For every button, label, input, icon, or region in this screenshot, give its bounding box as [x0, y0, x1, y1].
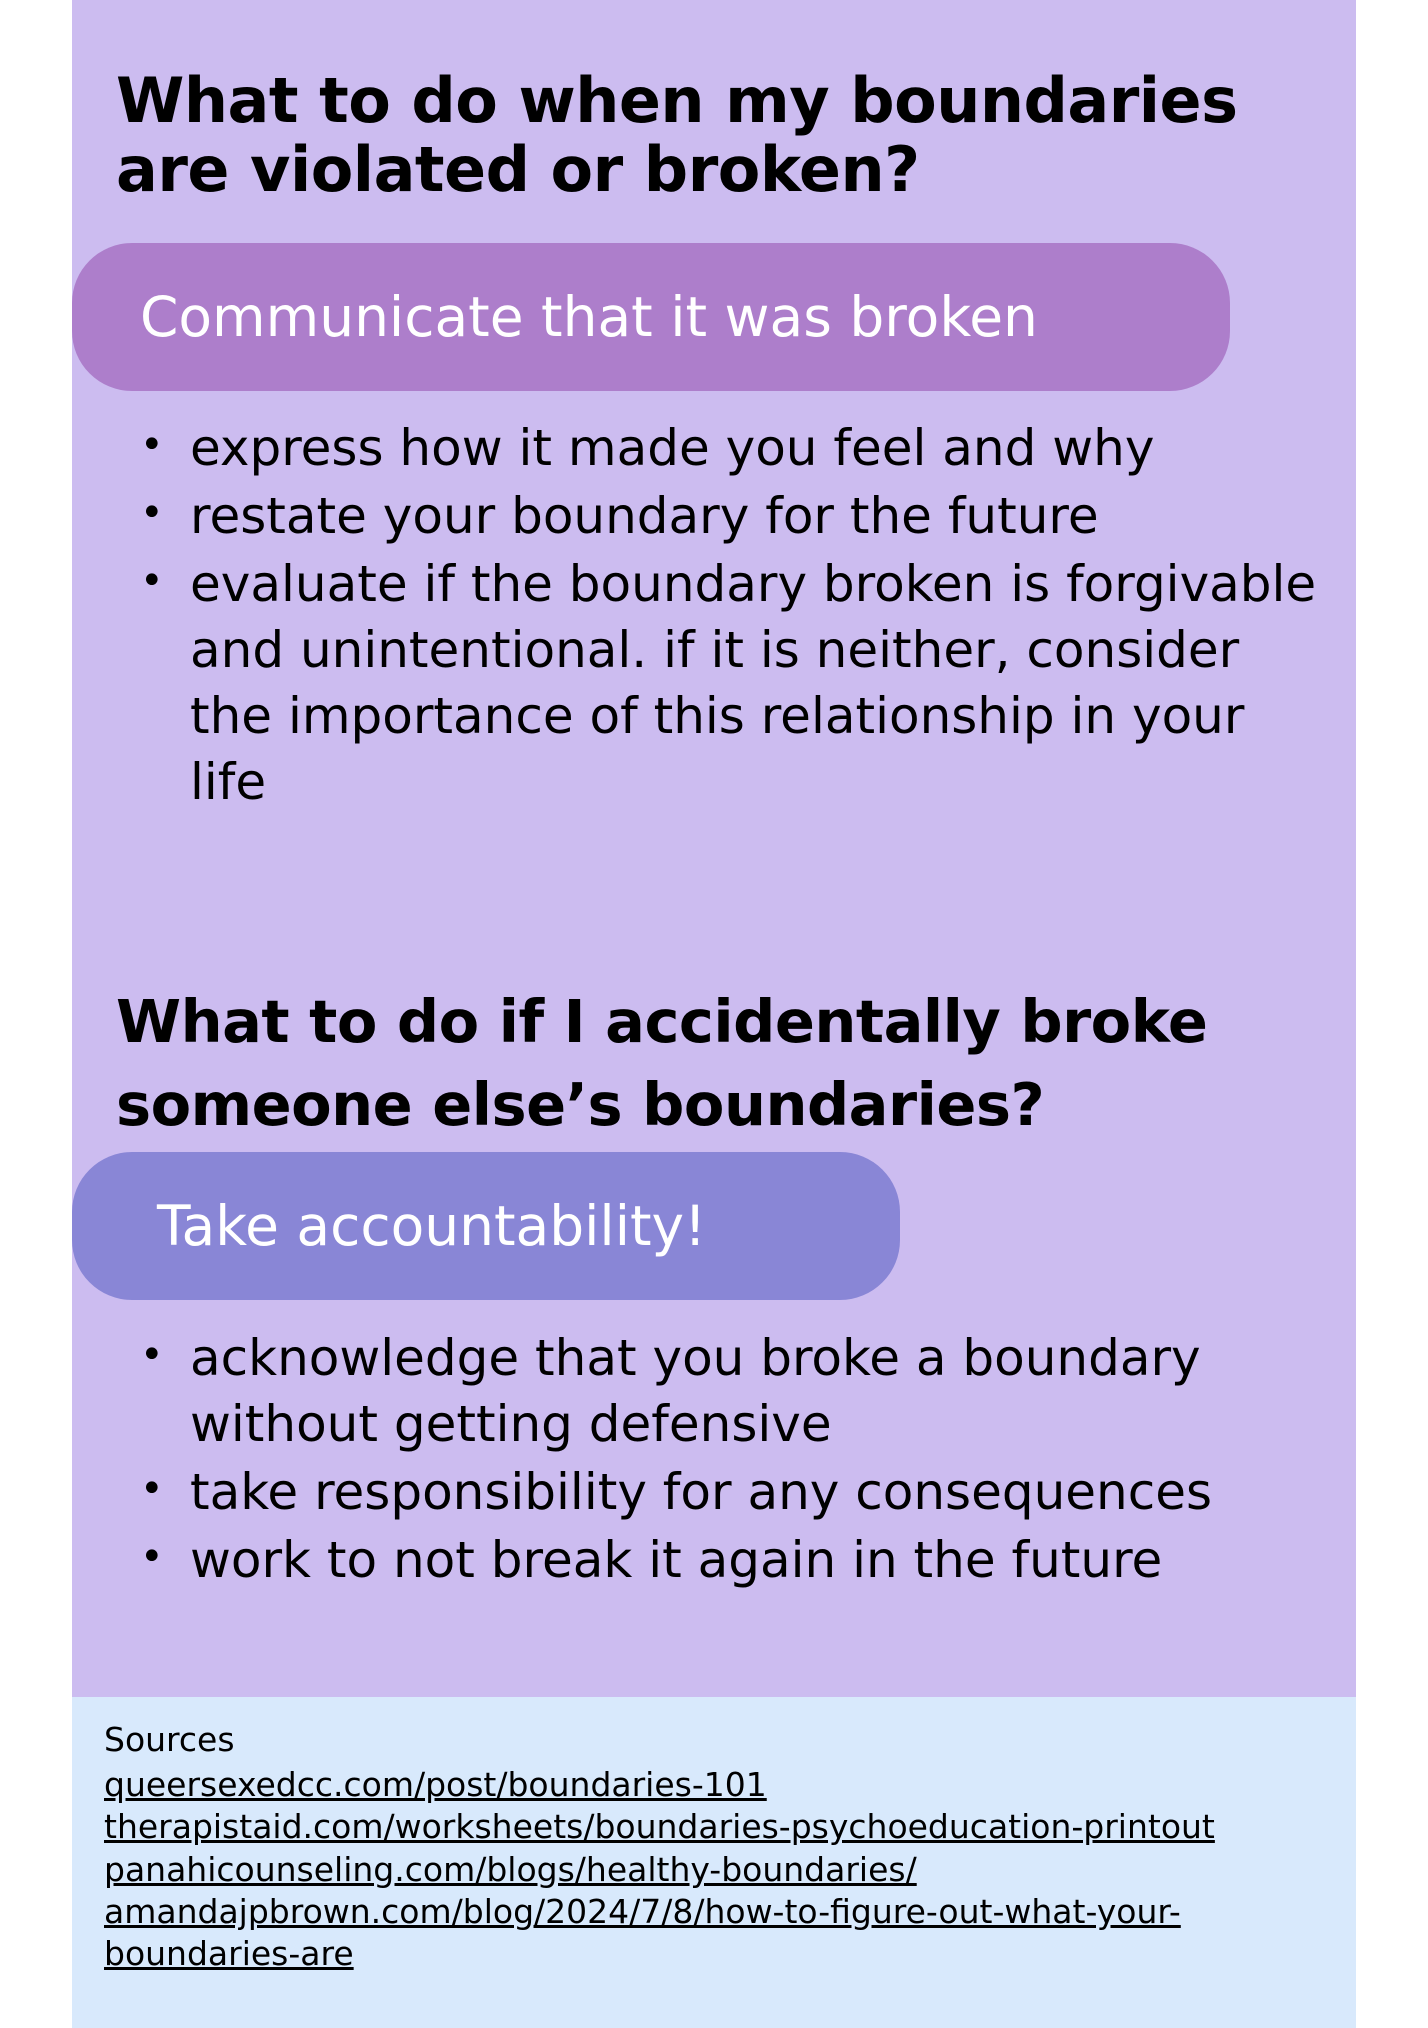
page-title-boundaries-violated: What to do when my boundaries are violat… [116, 66, 1246, 205]
list-item: evaluate if the boundary broken is forgi… [110, 551, 1325, 815]
list-item: acknowledge that you broke a boundary wi… [110, 1325, 1330, 1457]
bullet-list-communicate: express how it made you feel and why res… [110, 415, 1325, 817]
list-item: restate your boundary for the future [110, 483, 1325, 549]
poster-canvas: What to do when my boundaries are violat… [72, 0, 1356, 2028]
list-item: express how it made you feel and why [110, 415, 1325, 481]
list-item: take responsibility for any consequences [110, 1459, 1330, 1525]
sources-heading: Sources [104, 1719, 1334, 1761]
sources-block: Sources queersexedcc.com/post/boundaries… [104, 1719, 1334, 1975]
pill-take-accountability: Take accountability! [72, 1152, 900, 1300]
bullet-list-accountability: acknowledge that you broke a boundary wi… [110, 1325, 1330, 1595]
purple-content-region: What to do when my boundaries are violat… [72, 0, 1356, 1697]
page-title-accidentally-broke: What to do if I accidentally broke someo… [116, 980, 1276, 1148]
pill-communicate-that-it-was-broken: Communicate that it was broken [72, 243, 1230, 391]
pill-2-label: Take accountability! [157, 1194, 706, 1258]
source-link-panahicounseling[interactable]: panahicounseling.com/blogs/healthy-bound… [104, 1849, 1334, 1891]
source-link-amandajpbrown[interactable]: amandajpbrown.com/blog/2024/7/8/how-to-f… [104, 1891, 1334, 1975]
source-link-therapistaid[interactable]: therapistaid.com/worksheets/boundaries-p… [104, 1806, 1334, 1848]
pill-1-label: Communicate that it was broken [140, 285, 1038, 349]
list-item: work to not break it again in the future [110, 1527, 1330, 1593]
source-link-queersexedcc[interactable]: queersexedcc.com/post/boundaries-101 [104, 1764, 1334, 1806]
sources-region: Sources queersexedcc.com/post/boundaries… [72, 1697, 1356, 2028]
